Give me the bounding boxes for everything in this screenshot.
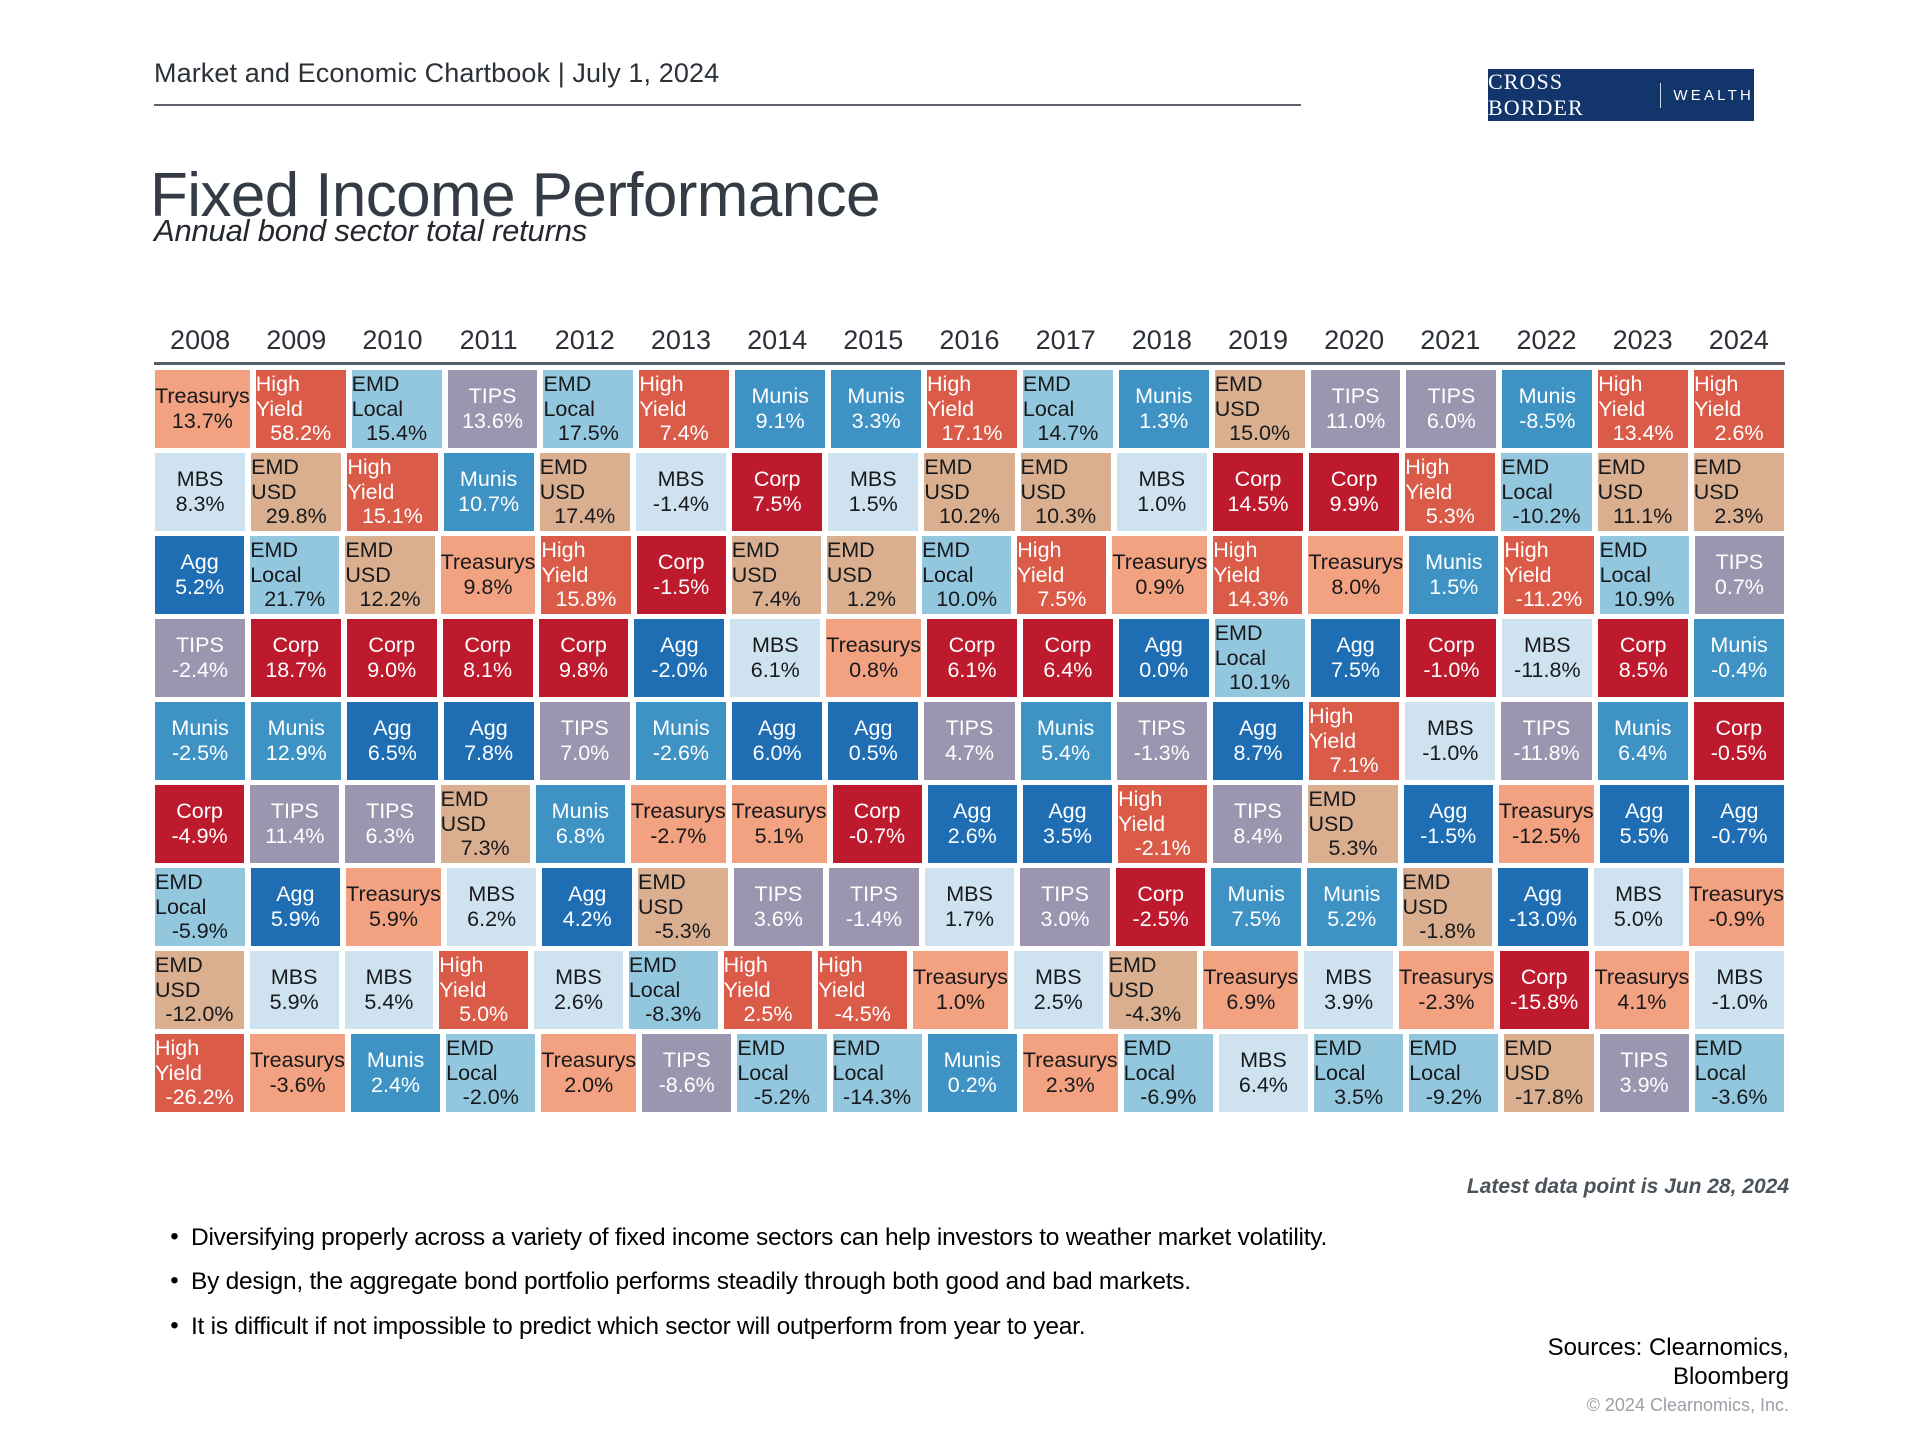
heatmap-body: Treasurys13.7%High Yield58.2%EMD Local15… <box>152 370 1787 1117</box>
cell-return-value: 1.7% <box>945 907 994 932</box>
grid-top-rule <box>154 362 1785 365</box>
cell-return-value: 0.5% <box>849 741 898 766</box>
heatmap-cell[interactable]: EMD USD10.2% <box>924 453 1014 531</box>
heatmap-cell[interactable]: EMD Local-6.9% <box>1124 1034 1213 1112</box>
heatmap-cell[interactable]: EMD Local-9.2% <box>1409 1034 1498 1112</box>
takeaway-text: Diversifying properly across a variety o… <box>191 1222 1327 1253</box>
cell-sector-label: Corp <box>658 550 705 575</box>
cell-return-value: 8.4% <box>1233 824 1282 849</box>
heatmap-cell[interactable]: EMD USD7.3% <box>441 785 530 863</box>
cell-return-value: -4.9% <box>172 824 228 849</box>
year-header-2008: 2008 <box>152 325 248 362</box>
heatmap-cell[interactable]: EMD Local-2.0% <box>446 1034 535 1112</box>
heatmap-cell[interactable]: Munis-0.4% <box>1694 619 1784 697</box>
cell-sector-label: EMD Local <box>155 870 245 920</box>
heatmap-cell[interactable]: EMD USD17.4% <box>540 453 630 531</box>
heatmap-cell[interactable]: MBS-11.8% <box>1502 619 1592 697</box>
year-header-2014: 2014 <box>729 325 825 362</box>
heatmap-cell[interactable]: EMD Local3.5% <box>1314 1034 1403 1112</box>
cell-sector-label: Munis <box>1135 384 1192 409</box>
heatmap-cell[interactable]: EMD USD5.3% <box>1308 785 1397 863</box>
heatmap-cell[interactable]: High Yield15.8% <box>541 536 630 614</box>
heatmap-cell[interactable]: High Yield7.4% <box>639 370 729 448</box>
takeaway-text: It is difficult if not impossible to pre… <box>191 1311 1085 1342</box>
heatmap-cell[interactable]: Munis5.4% <box>1021 702 1111 780</box>
heatmap-cell[interactable]: Corp7.5% <box>732 453 822 531</box>
heatmap-cell[interactable]: Treasurys-0.9% <box>1689 868 1784 946</box>
heatmap-cell[interactable]: Agg7.8% <box>444 702 534 780</box>
heatmap-cell[interactable]: EMD USD10.3% <box>1021 453 1111 531</box>
cell-return-value: 6.9% <box>1226 990 1275 1015</box>
heatmap-cell[interactable]: TIPS8.4% <box>1213 785 1302 863</box>
heatmap-cell[interactable]: High Yield7.1% <box>1309 702 1399 780</box>
heatmap-cell[interactable]: Agg-2.0% <box>634 619 724 697</box>
cell-sector-label: Agg <box>373 716 411 741</box>
heatmap-cell[interactable]: MBS8.3% <box>155 453 245 531</box>
heatmap-cell[interactable]: Corp-0.5% <box>1694 702 1784 780</box>
cell-return-value: -1.0% <box>1423 658 1479 683</box>
cell-sector-label: EMD Local <box>1215 621 1305 671</box>
heatmap-cell[interactable]: Corp8.1% <box>443 619 533 697</box>
cell-sector-label: EMD Local <box>352 372 442 422</box>
heatmap-row: MBS8.3%EMD USD29.8%High Yield15.1%Munis1… <box>152 453 1787 536</box>
heatmap-cell[interactable]: EMD Local-10.2% <box>1501 453 1591 531</box>
cell-sector-label: Treasurys <box>1203 965 1298 990</box>
heatmap-cell[interactable]: Agg5.5% <box>1600 785 1689 863</box>
cell-return-value: -12.5% <box>1512 824 1580 849</box>
cell-sector-label: Treasurys <box>1499 799 1594 824</box>
cell-return-value: 4.1% <box>1617 990 1666 1015</box>
heatmap-cell[interactable]: MBS3.9% <box>1304 951 1393 1029</box>
heatmap-cell[interactable]: Agg8.7% <box>1213 702 1303 780</box>
heatmap-cell[interactable]: TIPS-2.4% <box>155 619 245 697</box>
cell-sector-label: EMD Local <box>833 1036 922 1086</box>
heatmap-cell[interactable]: MBS2.5% <box>1014 951 1103 1029</box>
cell-return-value: -0.7% <box>1711 824 1767 849</box>
cell-sector-label: Agg <box>1048 799 1086 824</box>
heatmap-cell[interactable]: High Yield7.5% <box>1017 536 1106 614</box>
heatmap-cell[interactable]: High Yield58.2% <box>256 370 346 448</box>
cell-sector-label: Corp <box>273 633 320 658</box>
heatmap-cell[interactable]: Corp6.4% <box>1023 619 1113 697</box>
cell-sector-label: Treasurys <box>1023 1048 1118 1073</box>
heatmap-cell[interactable]: Munis0.2% <box>928 1034 1017 1112</box>
heatmap-cell[interactable]: Corp-15.8% <box>1500 951 1589 1029</box>
heatmap-cell[interactable]: MBS6.4% <box>1219 1034 1308 1112</box>
heatmap-cell[interactable]: EMD Local15.4% <box>352 370 442 448</box>
cell-return-value: 8.5% <box>1619 658 1668 683</box>
cell-sector-label: EMD USD <box>638 870 728 920</box>
heatmap-cell[interactable]: EMD Local17.5% <box>543 370 633 448</box>
heatmap-cell[interactable]: MBS-1.4% <box>636 453 726 531</box>
heatmap-cell[interactable]: MBS1.5% <box>828 453 918 531</box>
heatmap-cell[interactable]: EMD USD7.4% <box>732 536 821 614</box>
heatmap-cell[interactable]: MBS1.7% <box>925 868 1015 946</box>
cell-return-value: 5.9% <box>369 907 418 932</box>
heatmap-cell[interactable]: High Yield17.1% <box>927 370 1017 448</box>
heatmap-cell[interactable]: Treasurys5.1% <box>732 785 827 863</box>
heatmap-cell[interactable]: Munis9.1% <box>735 370 825 448</box>
cell-sector-label: MBS <box>177 467 224 492</box>
cell-sector-label: TIPS <box>1620 1048 1668 1073</box>
cell-return-value: 2.5% <box>1034 990 1083 1015</box>
cell-return-value: -2.3% <box>1418 990 1474 1015</box>
cell-sector-label: High Yield <box>439 953 528 1003</box>
cell-sector-label: Munis <box>367 1048 424 1073</box>
cell-sector-label: Corp <box>176 799 223 824</box>
heatmap-cell[interactable]: Treasurys4.1% <box>1595 951 1690 1029</box>
cell-sector-label: EMD USD <box>540 455 630 505</box>
sources-note: Sources: Clearnomics,Bloomberg <box>1548 1334 1789 1392</box>
year-header-2023: 2023 <box>1595 325 1691 362</box>
cell-sector-label: TIPS <box>1332 384 1380 409</box>
cell-sector-label: EMD USD <box>1403 870 1493 920</box>
heatmap-cell[interactable]: High Yield5.3% <box>1405 453 1495 531</box>
heatmap-cell[interactable]: Agg-1.5% <box>1404 785 1493 863</box>
cell-sector-label: MBS <box>1240 1048 1287 1073</box>
year-header-2015: 2015 <box>825 325 921 362</box>
heatmap-cell[interactable]: EMD Local14.7% <box>1023 370 1113 448</box>
cell-sector-label: TIPS <box>1428 384 1476 409</box>
year-header-2017: 2017 <box>1018 325 1114 362</box>
heatmap-cell[interactable]: Munis12.9% <box>251 702 341 780</box>
cell-return-value: 3.0% <box>1041 907 1090 932</box>
heatmap-cell[interactable]: High Yield-4.5% <box>818 951 907 1029</box>
cell-return-value: -3.6% <box>269 1073 325 1098</box>
heatmap-cell[interactable]: Corp-1.5% <box>637 536 726 614</box>
heatmap-cell[interactable]: EMD Local-8.3% <box>629 951 718 1029</box>
heatmap-cell[interactable]: Munis6.4% <box>1598 702 1688 780</box>
year-header-2024: 2024 <box>1691 325 1787 362</box>
cell-return-value: 5.9% <box>271 907 320 932</box>
heatmap-cell[interactable]: Treasurys-12.5% <box>1499 785 1594 863</box>
cell-return-value: 0.7% <box>1715 575 1764 600</box>
cell-return-value: -2.4% <box>172 658 228 683</box>
heatmap-cell[interactable]: TIPS-11.8% <box>1501 702 1591 780</box>
cell-sector-label: MBS <box>1325 965 1372 990</box>
cell-sector-label: MBS <box>1035 965 1082 990</box>
cell-return-value: 10.0% <box>936 587 997 612</box>
cell-return-value: 1.0% <box>936 990 985 1015</box>
cell-sector-label: Agg <box>1625 799 1663 824</box>
copyright-note: © 2024 Clearnomics, Inc. <box>1587 1395 1789 1416</box>
heatmap-cell[interactable]: TIPS3.6% <box>734 868 824 946</box>
heatmap-cell[interactable]: EMD USD29.8% <box>251 453 341 531</box>
heatmap-cell[interactable]: EMD Local-14.3% <box>833 1034 922 1112</box>
heatmap-cell[interactable]: Corp-2.5% <box>1116 868 1206 946</box>
heatmap-cell[interactable]: High Yield14.3% <box>1213 536 1302 614</box>
cell-return-value: 10.2% <box>939 504 1000 529</box>
cell-sector-label: Corp <box>560 633 607 658</box>
cell-return-value: 2.3% <box>1714 504 1763 529</box>
heatmap-cell[interactable]: Agg-13.0% <box>1498 868 1588 946</box>
heatmap-cell[interactable]: TIPS11.0% <box>1311 370 1401 448</box>
heatmap-cell[interactable]: Corp14.5% <box>1213 453 1303 531</box>
heatmap-cell[interactable]: EMD USD-17.8% <box>1504 1034 1593 1112</box>
heatmap-cell[interactable]: Treasurys9.8% <box>441 536 536 614</box>
takeaway-item: •It is difficult if not impossible to pr… <box>158 1311 1373 1342</box>
heatmap-cell[interactable]: MBS1.0% <box>1117 453 1207 531</box>
cell-sector-label: Treasurys <box>732 799 827 824</box>
heatmap-cell[interactable]: EMD USD-12.0% <box>155 951 244 1029</box>
cell-sector-label: EMD Local <box>1314 1036 1403 1086</box>
heatmap-cell[interactable]: Munis1.5% <box>1409 536 1498 614</box>
heatmap-cell[interactable]: Agg-0.7% <box>1695 785 1784 863</box>
heatmap-cell[interactable]: MBS5.0% <box>1594 868 1684 946</box>
heatmap-row: Agg5.2%EMD Local21.7%EMD USD12.2%Treasur… <box>152 536 1787 619</box>
cell-return-value: 1.2% <box>847 587 896 612</box>
cell-return-value: 29.8% <box>266 504 327 529</box>
cell-return-value: 7.8% <box>464 741 513 766</box>
cell-return-value: 15.4% <box>366 421 427 446</box>
cell-sector-label: High Yield <box>818 953 907 1003</box>
heatmap-cell[interactable]: EMD Local-5.2% <box>737 1034 826 1112</box>
heatmap-cell[interactable]: EMD USD15.0% <box>1215 370 1305 448</box>
cell-return-value: 3.6% <box>754 907 803 932</box>
heatmap-cell[interactable]: EMD Local10.9% <box>1600 536 1689 614</box>
cell-return-value: 13.4% <box>1613 421 1674 446</box>
cell-return-value: 7.5% <box>1232 907 1281 932</box>
heatmap-cell[interactable]: EMD USD12.2% <box>345 536 434 614</box>
heatmap-cell[interactable]: TIPS-8.6% <box>642 1034 731 1112</box>
cell-return-value: 9.1% <box>756 409 805 434</box>
heatmap-cell[interactable]: MBS2.6% <box>534 951 623 1029</box>
cell-sector-label: Treasurys <box>441 550 536 575</box>
heatmap-cell[interactable]: Agg0.0% <box>1119 619 1209 697</box>
heatmap-cell[interactable]: Munis-8.5% <box>1502 370 1592 448</box>
heatmap-cell[interactable]: Agg0.5% <box>828 702 918 780</box>
heatmap-cell[interactable]: Agg4.2% <box>542 868 632 946</box>
heatmap-cell[interactable]: Corp-1.0% <box>1406 619 1496 697</box>
heatmap-cell[interactable]: Agg5.2% <box>155 536 244 614</box>
heatmap-cell[interactable]: Treasurys2.0% <box>541 1034 636 1112</box>
heatmap-cell[interactable]: EMD Local10.0% <box>922 536 1011 614</box>
heatmap-row: EMD USD-12.0%MBS5.9%MBS5.4%High Yield5.0… <box>152 951 1787 1034</box>
cell-sector-label: TIPS <box>1041 882 1089 907</box>
cell-sector-label: EMD USD <box>1504 1036 1593 1086</box>
cell-sector-label: Munis <box>1037 716 1094 741</box>
cell-return-value: 6.0% <box>1427 409 1476 434</box>
heatmap-cell[interactable]: EMD USD-5.3% <box>638 868 728 946</box>
heatmap-cell[interactable]: Munis6.8% <box>536 785 625 863</box>
year-header-2020: 2020 <box>1306 325 1402 362</box>
heatmap-cell[interactable]: Treasurys5.9% <box>346 868 441 946</box>
cell-return-value: -4.5% <box>835 1002 891 1027</box>
cell-return-value: -11.8% <box>1513 741 1580 766</box>
heatmap-cell[interactable]: Munis2.4% <box>351 1034 440 1112</box>
heatmap-cell[interactable]: Treasurys1.0% <box>913 951 1008 1029</box>
heatmap-cell[interactable]: High Yield-26.2% <box>155 1034 244 1112</box>
heatmap-cell[interactable]: Treasurys-2.3% <box>1399 951 1494 1029</box>
heatmap-cell[interactable]: MBS6.2% <box>447 868 537 946</box>
heatmap-cell[interactable]: Munis-2.5% <box>155 702 245 780</box>
year-header-row: 2008200920102011201220132014201520162017… <box>152 325 1787 362</box>
heatmap-cell[interactable]: Treasurys0.9% <box>1112 536 1207 614</box>
heatmap-cell[interactable]: Corp-4.9% <box>155 785 244 863</box>
heatmap-cell[interactable]: Treasurys-3.6% <box>250 1034 345 1112</box>
cell-sector-label: EMD USD <box>1694 455 1784 505</box>
heatmap-cell[interactable]: MBS-1.0% <box>1695 951 1784 1029</box>
cell-sector-label: Agg <box>953 799 991 824</box>
heatmap-cell[interactable]: Munis3.3% <box>831 370 921 448</box>
cell-sector-label: MBS <box>1615 882 1662 907</box>
cell-return-value: 12.9% <box>266 741 327 766</box>
cell-sector-label: EMD Local <box>1695 1036 1784 1086</box>
heatmap-cell[interactable]: TIPS-1.3% <box>1117 702 1207 780</box>
cell-sector-label: EMD USD <box>1021 455 1111 505</box>
cell-return-value: 6.4% <box>1239 1073 1288 1098</box>
cell-return-value: 13.7% <box>172 409 233 434</box>
cell-sector-label: MBS <box>468 882 515 907</box>
cell-sector-label: TIPS <box>1138 716 1186 741</box>
heatmap-cell[interactable]: Agg2.6% <box>928 785 1017 863</box>
cell-return-value: 5.3% <box>1329 836 1378 861</box>
cell-sector-label: Munis <box>460 467 517 492</box>
heatmap-cell[interactable]: Munis5.2% <box>1307 868 1397 946</box>
cell-sector-label: High Yield <box>639 372 729 422</box>
cell-sector-label: MBS <box>1427 716 1474 741</box>
cell-sector-label: TIPS <box>663 1048 711 1073</box>
cell-return-value: 2.5% <box>743 1002 792 1027</box>
heatmap-cell[interactable]: TIPS3.9% <box>1600 1034 1689 1112</box>
heatmap-cell[interactable]: High Yield13.4% <box>1598 370 1688 448</box>
cell-sector-label: Treasurys <box>1689 882 1784 907</box>
cell-return-value: 7.4% <box>660 421 709 446</box>
heatmap-cell[interactable]: High Yield15.1% <box>347 453 437 531</box>
heatmap-cell[interactable]: Corp-0.7% <box>833 785 922 863</box>
cell-return-value: -13.0% <box>1509 907 1577 932</box>
heatmap-cell[interactable]: Munis-2.6% <box>636 702 726 780</box>
heatmap-cell[interactable]: Agg7.5% <box>1311 619 1401 697</box>
cell-return-value: -6.9% <box>1140 1085 1196 1110</box>
cell-sector-label: Corp <box>1235 467 1282 492</box>
cell-sector-label: EMD Local <box>629 953 718 1003</box>
heatmap-cell[interactable]: High Yield-11.2% <box>1504 536 1593 614</box>
heatmap-cell[interactable]: EMD USD2.3% <box>1694 453 1784 531</box>
cell-return-value: -0.9% <box>1709 907 1765 932</box>
heatmap-cell[interactable]: TIPS13.6% <box>448 370 538 448</box>
cell-return-value: -9.2% <box>1426 1085 1482 1110</box>
heatmap-cell[interactable]: EMD USD11.1% <box>1598 453 1688 531</box>
heatmap-cell[interactable]: MBS5.9% <box>250 951 339 1029</box>
heatmap-cell[interactable]: MBS-1.0% <box>1405 702 1495 780</box>
cell-return-value: 4.7% <box>945 741 994 766</box>
heatmap-row: Munis-2.5%Munis12.9%Agg6.5%Agg7.8%TIPS7.… <box>152 702 1787 785</box>
heatmap-cell[interactable]: Treasurys0.8% <box>826 619 921 697</box>
header-divider <box>154 104 1301 106</box>
heatmap-cell[interactable]: High Yield2.6% <box>1694 370 1784 448</box>
heatmap-cell[interactable]: EMD Local21.7% <box>250 536 339 614</box>
cell-return-value: 11.0% <box>1326 409 1385 434</box>
cell-sector-label: MBS <box>1716 965 1763 990</box>
heatmap-cell[interactable]: Treasurys8.0% <box>1308 536 1403 614</box>
heatmap-cell[interactable]: High Yield2.5% <box>724 951 813 1029</box>
cell-return-value: 6.1% <box>947 658 996 683</box>
heatmap-cell[interactable]: Munis7.5% <box>1211 868 1301 946</box>
heatmap-cell[interactable]: Treasurys-2.7% <box>631 785 726 863</box>
heatmap-cell[interactable]: TIPS7.0% <box>540 702 630 780</box>
heatmap-cell[interactable]: Agg6.5% <box>347 702 437 780</box>
heatmap-cell[interactable]: TIPS4.7% <box>924 702 1014 780</box>
heatmap-cell[interactable]: EMD USD1.2% <box>827 536 916 614</box>
heatmap-cell[interactable]: EMD Local-3.6% <box>1695 1034 1784 1112</box>
heatmap-cell[interactable]: MBS6.1% <box>730 619 820 697</box>
heatmap-cell[interactable]: EMD USD-1.8% <box>1403 868 1493 946</box>
heatmap-cell[interactable]: Treasurys2.3% <box>1023 1034 1118 1112</box>
heatmap-cell[interactable]: High Yield5.0% <box>439 951 528 1029</box>
cell-sector-label: EMD Local <box>1124 1036 1213 1086</box>
sources-line: Bloomberg <box>1548 1363 1789 1392</box>
cell-return-value: -2.0% <box>651 658 707 683</box>
heatmap-cell[interactable]: Corp8.5% <box>1598 619 1688 697</box>
bullet-marker-icon: • <box>158 1222 191 1253</box>
cell-sector-label: Treasurys <box>1112 550 1207 575</box>
heatmap-cell[interactable]: TIPS6.0% <box>1406 370 1496 448</box>
cell-sector-label: Corp <box>1521 965 1568 990</box>
heatmap-cell[interactable]: EMD USD-4.3% <box>1109 951 1198 1029</box>
cell-return-value: 5.9% <box>270 990 319 1015</box>
cell-return-value: -8.3% <box>645 1002 701 1027</box>
cell-sector-label: Agg <box>1429 799 1467 824</box>
heatmap-cell[interactable]: Corp6.1% <box>927 619 1017 697</box>
cell-return-value: 5.4% <box>1041 741 1090 766</box>
heatmap-cell[interactable]: TIPS3.0% <box>1020 868 1110 946</box>
heatmap-cell[interactable]: TIPS0.7% <box>1695 536 1784 614</box>
cell-sector-label: EMD Local <box>1501 455 1591 505</box>
cell-return-value: -17.8% <box>1515 1085 1583 1110</box>
heatmap-cell[interactable]: TIPS-1.4% <box>829 868 919 946</box>
heatmap-cell[interactable]: Corp9.8% <box>539 619 629 697</box>
heatmap-cell[interactable]: Agg3.5% <box>1023 785 1112 863</box>
heatmap-cell[interactable]: EMD Local10.1% <box>1215 619 1305 697</box>
cell-sector-label: Corp <box>854 799 901 824</box>
latest-data-point-note: Latest data point is Jun 28, 2024 <box>1467 1175 1789 1199</box>
cell-return-value: 5.4% <box>364 990 413 1015</box>
cell-return-value: -1.5% <box>1420 824 1476 849</box>
heatmap-cell[interactable]: Agg6.0% <box>732 702 822 780</box>
cell-sector-label: High Yield <box>724 953 813 1003</box>
heatmap-cell[interactable]: Agg5.9% <box>251 868 341 946</box>
cell-sector-label: MBS <box>555 965 602 990</box>
heatmap-cell[interactable]: MBS5.4% <box>345 951 434 1029</box>
heatmap-cell[interactable]: Treasurys13.7% <box>155 370 250 448</box>
heatmap-cell[interactable]: High Yield-2.1% <box>1118 785 1207 863</box>
heatmap-cell[interactable]: TIPS6.3% <box>345 785 434 863</box>
heatmap-cell[interactable]: Munis1.3% <box>1119 370 1209 448</box>
cell-sector-label: TIPS <box>1715 550 1763 575</box>
cell-return-value: 6.8% <box>556 824 605 849</box>
cell-return-value: 1.3% <box>1139 409 1188 434</box>
heatmap-cell[interactable]: Corp9.0% <box>347 619 437 697</box>
heatmap-cell[interactable]: TIPS11.4% <box>250 785 339 863</box>
cell-return-value: -1.3% <box>1134 741 1190 766</box>
heatmap-cell[interactable]: Corp9.9% <box>1309 453 1399 531</box>
cell-return-value: 58.2% <box>270 421 331 446</box>
cell-return-value: -0.7% <box>849 824 905 849</box>
heatmap-row: High Yield-26.2%Treasurys-3.6%Munis2.4%E… <box>152 1034 1787 1117</box>
heatmap-cell[interactable]: EMD Local-5.9% <box>155 868 245 946</box>
cell-sector-label: Treasurys <box>1308 550 1403 575</box>
heatmap-cell[interactable]: Corp18.7% <box>251 619 341 697</box>
cell-sector-label: Munis <box>847 384 904 409</box>
heatmap-cell[interactable]: Munis10.7% <box>444 453 534 531</box>
cell-sector-label: Treasurys <box>913 965 1008 990</box>
cell-return-value: 8.0% <box>1331 575 1380 600</box>
cell-sector-label: Agg <box>1720 799 1758 824</box>
cell-sector-label: High Yield <box>1017 538 1106 588</box>
cell-sector-label: Munis <box>652 716 709 741</box>
heatmap-cell[interactable]: Treasurys6.9% <box>1203 951 1298 1029</box>
